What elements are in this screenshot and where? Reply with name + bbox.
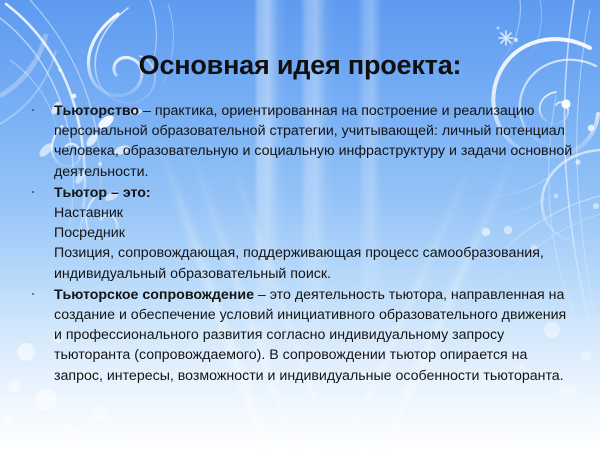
bullet-dot-icon <box>32 293 34 295</box>
sub-line: Наставник <box>54 203 576 223</box>
page-title: Основная идея проекта: <box>0 50 600 81</box>
bullet-dot-icon <box>32 109 34 111</box>
presentation-slide: Основная идея проекта: Тьюторство – прак… <box>0 0 600 450</box>
bullet-lead-term: Тьютор – это: <box>54 185 151 201</box>
sub-line: Позиция, сопровождающая, поддерживающая … <box>54 243 576 283</box>
bullet-dash: – <box>254 287 270 303</box>
sub-line: Посредник <box>54 223 576 243</box>
list-item: Тьютор – это: Наставник Посредник Позици… <box>28 183 576 284</box>
bullet-paragraph: Тьютор – это: <box>54 183 576 203</box>
list-item: Тьюторское сопровождение – это деятельно… <box>28 285 576 386</box>
bullet-lead-term: Тьюторство <box>54 103 139 119</box>
bullet-list: Тьюторство – практика, ориентированная н… <box>28 101 576 387</box>
bullet-paragraph: Тьюторское сопровождение – это деятельно… <box>54 285 576 386</box>
bullet-paragraph: Тьюторство – практика, ориентированная н… <box>54 101 576 182</box>
list-item: Тьюторство – практика, ориентированная н… <box>28 101 576 182</box>
bullet-dot-icon <box>32 191 34 193</box>
bullet-dash: – <box>139 103 155 119</box>
bullet-lead-term: Тьюторское сопровождение <box>54 287 254 303</box>
slide-content: Основная идея проекта: Тьюторство – прак… <box>0 0 600 450</box>
